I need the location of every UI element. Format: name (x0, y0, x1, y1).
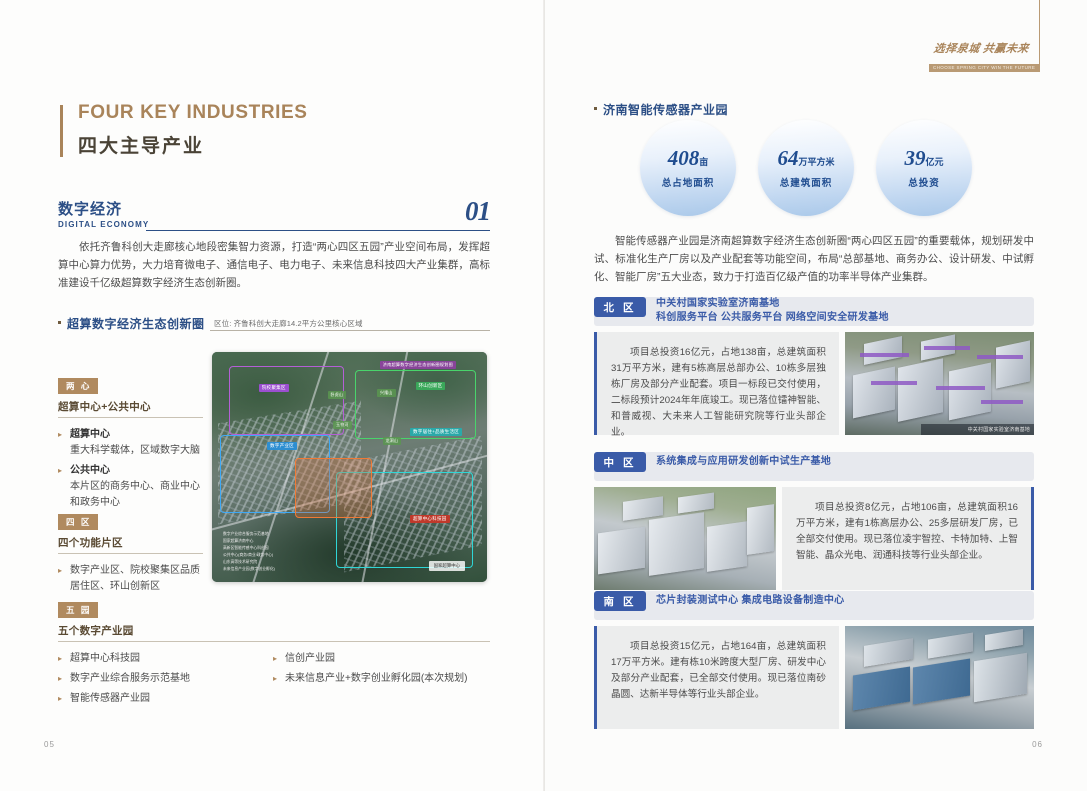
page-number-right: 06 (1032, 740, 1043, 749)
stat-value: 408 (668, 146, 700, 170)
stat-circle: 39亿元 总投资 (876, 120, 972, 216)
list-item: 智能传感器产业园 (58, 691, 273, 707)
key-block-four-districts: 四 区 四个功能片区 数字产业区、院校聚集区品质居住区、环山创新区 (58, 512, 203, 599)
key-block-tag: 四 区 (58, 514, 98, 530)
map-hill-label: 玉符河 (333, 421, 352, 429)
bullet-dot-icon (594, 107, 597, 110)
subsection-title: 超算数字经济生态创新圈 (67, 315, 205, 332)
map-title-label: 济南超算数字经济生态创新圈规划图 (380, 361, 456, 369)
zone-header-text: 系统集成与应用研发创新中试生产基地 (656, 455, 831, 469)
right-page-title-bar: 济南智能传感器产业园 (594, 101, 728, 119)
zone-body: 项目总投资16亿元，占地138亩，总建筑面积31万平方米，建有5栋高层总部办公、… (594, 332, 1034, 435)
subsection-location: 区位: 齐鲁科创大走廊14.2平方公里核心区域 (214, 318, 363, 329)
zone-body: 项目总投资15亿元，占地164亩，总建筑面积17万平方米。建有栋10米跨度大型厂… (594, 626, 1034, 729)
legend-item: 国家超算济南中心 (223, 538, 275, 545)
zone-photo (845, 626, 1034, 729)
list-item: 公共中心 本片区的商务中心、商业中心和政务中心 (58, 463, 203, 511)
zone-header: 中 区 系统集成与应用研发创新中试生产基地 (594, 452, 1034, 481)
brand-divider-rule (1039, 0, 1040, 72)
legend-item: 山东高等技术研究院 (223, 559, 275, 566)
zone-header-text: 芯片封装测试中心 集成电路设备制造中心 (656, 594, 844, 608)
stat-label: 总占地面积 (662, 175, 715, 189)
zone-text-card: 项目总投资16亿元，占地138亩，总建筑面积31万平方米，建有5栋高层总部办公、… (594, 332, 839, 435)
list-item: 信创产业园 (273, 651, 488, 667)
list-item: 超算中心 重大科学载体，区域数字大脑 (58, 427, 203, 459)
topic-heading: 数字经济 DIGITAL ECONOMY 01 (58, 198, 490, 229)
right-intro-paragraph: 智能传感器产业园是济南超算数字经济生态创新圈“两心四区五园”的重要载体，规划研发… (594, 232, 1034, 286)
park-list-left: 超算中心科技园 数字产业综合服务示范基地 智能传感器产业园 (58, 651, 273, 711)
brand-subtitle: CHOOSE SPRING CITY WIN THE FUTURE (929, 64, 1039, 72)
zone-boundary-purple (229, 366, 345, 435)
map-hill-label: 兴隆山 (377, 389, 396, 397)
stat-value-wrap: 39亿元 (904, 148, 943, 169)
zone-header-line1: 系统集成与应用研发创新中试生产基地 (656, 455, 831, 469)
topic-number: 01 (465, 196, 490, 227)
map-hill-label: 龙洞山 (383, 437, 402, 445)
left-intro-paragraph: 依托齐鲁科创大走廊核心地段密集智力资源，打造“两心四区五园”产业空间布局，发挥超… (58, 238, 490, 292)
zone-north: 北 区 中关村国家实验室济南基地 科创服务平台 公共服务平台 网络空间安全研发基… (594, 297, 1034, 435)
zone-photo: 中关村国家实验室济南基地 (845, 332, 1034, 435)
key-block-tag: 两 心 (58, 378, 98, 394)
key-block-five-parks: 五 园 五个数字产业园 超算中心科技园 数字产业综合服务示范基地 智能传感器产业… (58, 600, 490, 711)
map-zone-label: 数字居住+品质生活区 (410, 428, 462, 436)
list-item: 未来信息产业+数字创业孵化园(本次规划) (273, 671, 488, 687)
bullet-dot-icon (58, 321, 61, 324)
page-number-left: 05 (44, 740, 55, 749)
map-zone-label: 数字产业区 (267, 442, 297, 450)
stat-circle: 408亩 总占地面积 (640, 120, 736, 216)
key-block-items: 超算中心 重大科学载体，区域数字大脑 公共中心 本片区的商务中心、商业中心和政务… (58, 427, 203, 511)
zone-body: 项目总投资8亿元，占地106亩，总建筑面积16万平方米，建有1栋高层办公、25多… (594, 487, 1034, 590)
topic-title-chinese: 数字经济 (58, 198, 490, 219)
brand-calligraphy: 选择泉城 共赢未来 (928, 40, 1030, 56)
page-spine (543, 0, 545, 791)
zone-description: 项目总投资8亿元，占地106亩，总建筑面积16万平方米，建有1栋高层办公、25多… (796, 500, 1018, 564)
item-name: 超算中心 (70, 429, 110, 440)
zone-header-line2: 科创服务平台 公共服务平台 网络空间安全研发基地 (656, 311, 889, 325)
zone-badge: 中 区 (594, 452, 646, 472)
key-block-rule (58, 641, 490, 642)
stat-label: 总建筑面积 (780, 175, 833, 189)
list-item: 超算中心科技园 (58, 651, 273, 667)
stat-unit: 万平方米 (798, 157, 834, 167)
zone-header-line1: 芯片封装测试中心 集成电路设备制造中心 (656, 594, 844, 608)
zone-text-card: 项目总投资8亿元，占地106亩，总建筑面积16万平方米，建有1栋高层办公、25多… (782, 487, 1034, 590)
right-page-title: 济南智能传感器产业园 (594, 103, 728, 117)
zone-boundary-orange (295, 458, 372, 518)
legend-item: 未来信息产业园(数字创业孵化) (223, 566, 275, 573)
item-desc: 重大科学载体，区域数字大脑 (70, 443, 203, 459)
stat-value-wrap: 408亩 (668, 148, 709, 169)
legend-item: 公共中心(商务/商业/政务中心) (223, 552, 275, 559)
park-list-right: 信创产业园 未来信息产业+数字创业孵化园(本次规划) (273, 651, 488, 711)
masterplan-aerial-image: 济南超算数字经济生态创新圈规划图 院校聚集区 环山创新区 数字产业区 数字居住+… (212, 352, 487, 582)
key-block-two-centers: 两 心 超算中心+公共中心 超算中心 重大科学载体，区域数字大脑 公共中心 本片… (58, 376, 203, 515)
brochure-spread: 选择泉城 共赢未来 CHOOSE SPRING CITY WIN THE FUT… (0, 0, 1087, 791)
map-zone-label: 环山创新区 (416, 382, 446, 390)
map-badge: 国家超算中心 (429, 561, 465, 571)
subsection-title-bar: 超算数字经济生态创新圈 区位: 齐鲁科创大走廊14.2平方公里核心区域 (58, 315, 490, 331)
zone-text-card: 项目总投资15亿元，占地164亩，总建筑面积17万平方米。建有栋10米跨度大型厂… (594, 626, 839, 729)
key-block-subtitle: 五个数字产业园 (58, 623, 490, 638)
item-desc: 数字产业区、院校聚集区品质居住区、环山创新区 (70, 563, 203, 595)
key-block-items: 数字产业区、院校聚集区品质居住区、环山创新区 (58, 563, 203, 595)
stat-label: 总投资 (908, 175, 940, 189)
key-block-rule (58, 553, 203, 554)
legend-item: 数字产业综合服务示范基地 (223, 531, 275, 538)
key-block-items: 超算中心科技园 数字产业综合服务示范基地 智能传感器产业园 信创产业园 未来信息… (58, 651, 490, 711)
map-legend: 数字产业综合服务示范基地 国家超算济南中心 高新区智能传感中心科创园 公共中心(… (223, 531, 275, 573)
stat-value: 64 (777, 146, 798, 170)
zone-header: 北 区 中关村国家实验室济南基地 科创服务平台 公共服务平台 网络空间安全研发基… (594, 297, 1034, 326)
zone-badge: 北 区 (594, 297, 646, 317)
key-block-subtitle: 四个功能片区 (58, 535, 203, 550)
zone-header: 南 区 芯片封装测试中心 集成电路设备制造中心 (594, 591, 1034, 620)
topic-rule (146, 230, 490, 231)
photo-caption: 中关村国家实验室济南基地 (921, 424, 1034, 435)
stat-value-wrap: 64万平方米 (777, 148, 834, 169)
zone-description: 项目总投资16亿元，占地138亩，总建筑面积31万平方米，建有5栋高层总部办公、… (611, 345, 826, 441)
subsection-rule (210, 330, 490, 331)
map-zone-label: 超算中心科技园 (410, 515, 450, 523)
item-desc: 本片区的商务中心、商业中心和政务中心 (70, 479, 203, 511)
section-header-chinese: 四大主导产业 (78, 131, 308, 158)
stat-circle: 64万平方米 总建筑面积 (758, 120, 854, 216)
topic-title-english: DIGITAL ECONOMY (58, 220, 490, 229)
section-header: FOUR KEY INDUSTRIES 四大主导产业 (60, 102, 308, 158)
zone-description: 项目总投资15亿元，占地164亩，总建筑面积17万平方米。建有栋10米跨度大型厂… (611, 639, 826, 703)
zone-badge: 南 区 (594, 591, 646, 611)
item-name: 公共中心 (70, 465, 110, 476)
zone-header-line1: 中关村国家实验室济南基地 (656, 297, 889, 311)
zone-header-text: 中关村国家实验室济南基地 科创服务平台 公共服务平台 网络空间安全研发基地 (656, 297, 889, 325)
key-block-tag: 五 园 (58, 602, 98, 618)
key-block-rule (58, 417, 203, 418)
zone-middle: 中 区 系统集成与应用研发创新中试生产基地 项目总投资8亿元，占地106亩，总建… (594, 452, 1034, 590)
brand-mark: 选择泉城 共赢未来 CHOOSE SPRING CITY WIN THE FUT… (929, 40, 1029, 74)
list-item: 数字产业综合服务示范基地 (58, 671, 273, 687)
zone-south: 南 区 芯片封装测试中心 集成电路设备制造中心 项目总投资15亿元，占地164亩… (594, 591, 1034, 729)
key-block-subtitle: 超算中心+公共中心 (58, 399, 203, 414)
map-zone-label: 院校聚集区 (259, 384, 289, 392)
zone-photo (594, 487, 776, 590)
stat-circles: 408亩 总占地面积 64万平方米 总建筑面积 39亿元 总投资 (594, 120, 1034, 220)
list-item: 数字产业区、院校聚集区品质居住区、环山创新区 (58, 563, 203, 595)
stat-unit: 亿元 (925, 157, 943, 167)
stat-value: 39 (904, 146, 925, 170)
map-hill-label: 卧虎山 (328, 391, 347, 399)
legend-item: 高新区智能传感中心科创园 (223, 545, 275, 552)
section-header-english: FOUR KEY INDUSTRIES (78, 102, 308, 124)
stat-unit: 亩 (699, 157, 708, 167)
